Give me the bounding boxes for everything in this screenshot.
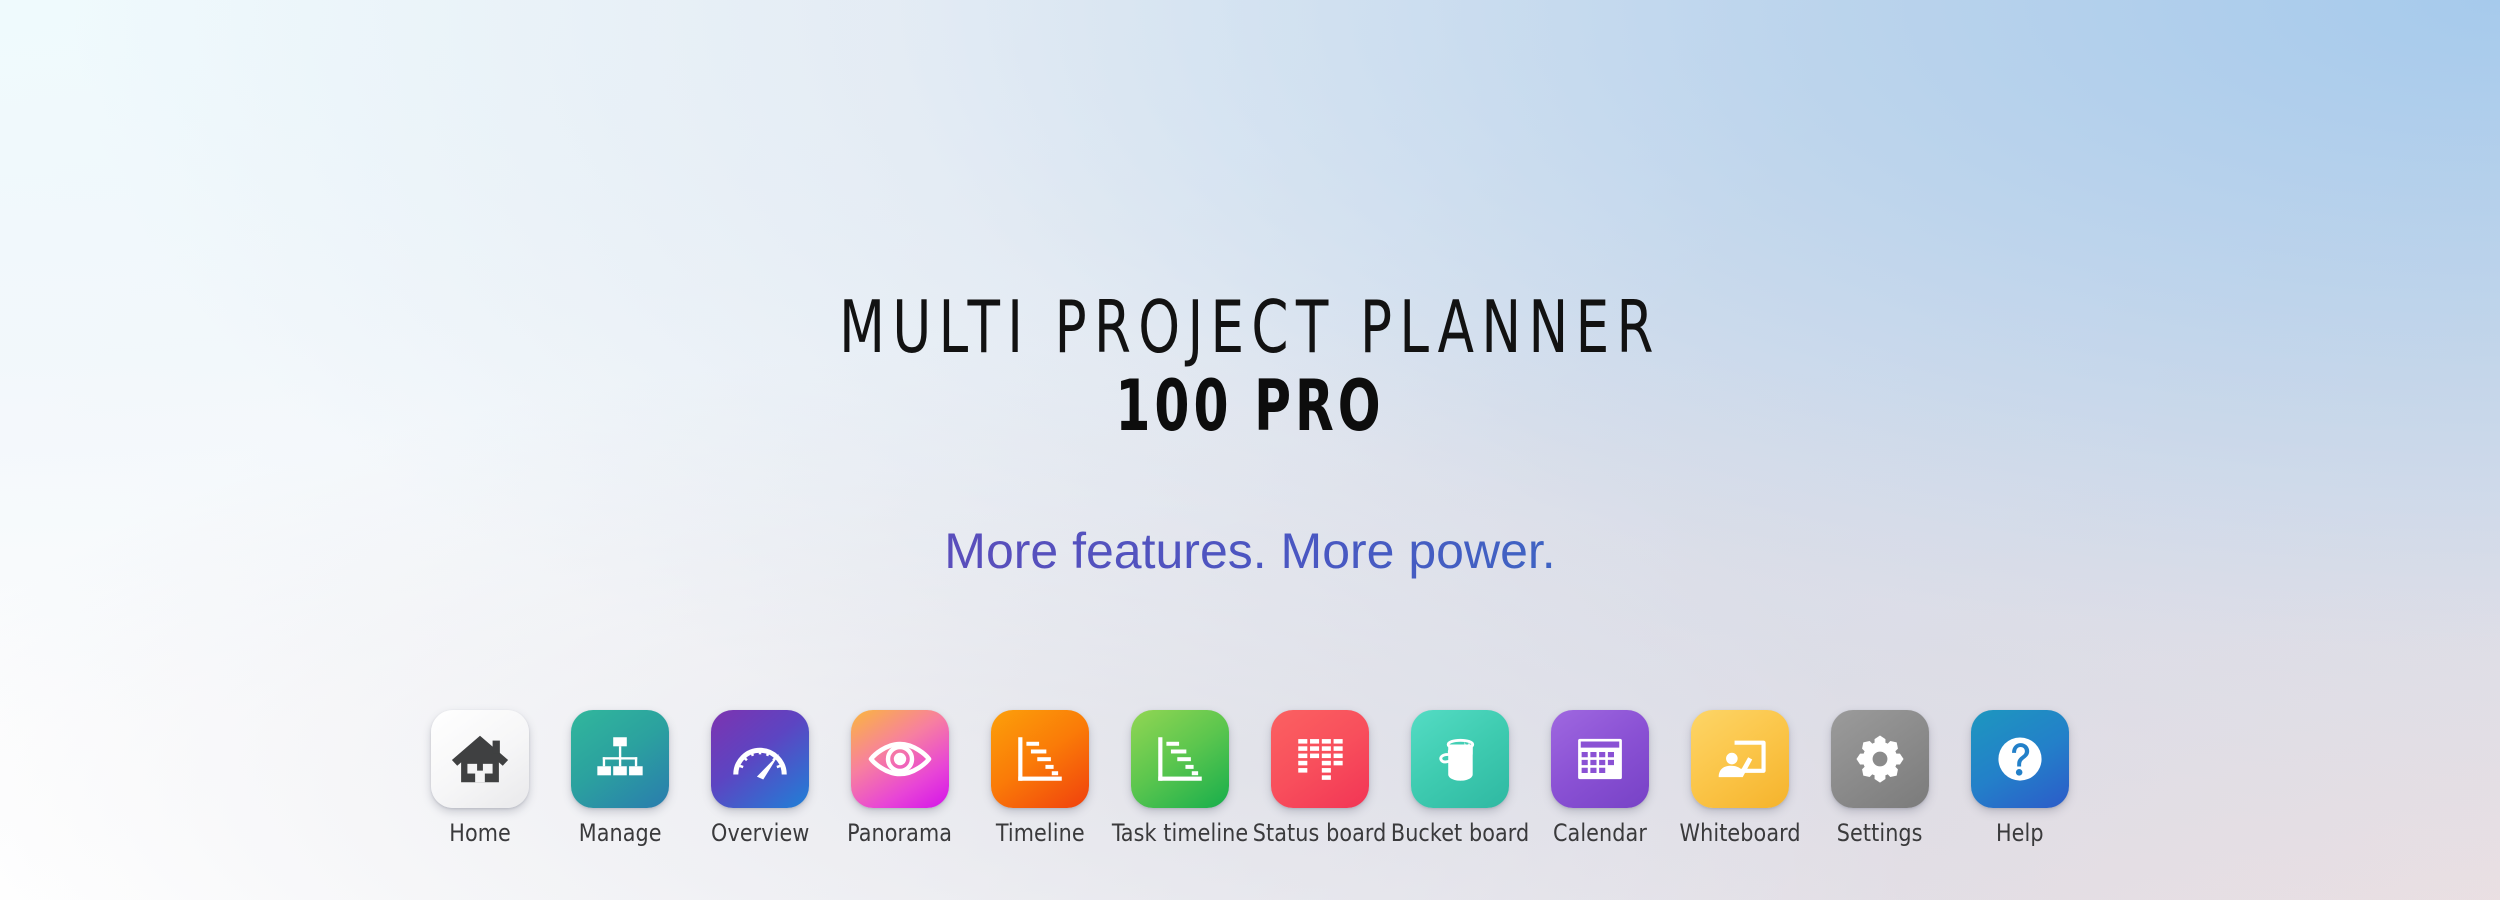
tile-surface[interactable] [1831, 710, 1929, 808]
launcher-tile-help[interactable]: Help [1950, 710, 2090, 847]
product-title-line1: MULTI PROJECT PLANNER [225, 288, 2275, 366]
whiteboard-icon [1711, 730, 1769, 788]
launcher-tile-panorama[interactable]: Panorama [830, 710, 970, 847]
tile-label: Manage [579, 819, 662, 847]
question-mark-icon [1990, 729, 2050, 789]
tile-surface[interactable] [711, 710, 809, 808]
status-board-icon [1291, 730, 1349, 788]
tile-surface[interactable] [1971, 710, 2069, 808]
launcher-tile-whiteboard[interactable]: Whiteboard [1670, 710, 1810, 847]
tile-label: Panorama [848, 819, 953, 847]
tile-label: Settings [1837, 819, 1923, 847]
gantt-chart-icon [1011, 730, 1069, 788]
org-chart-icon [591, 730, 649, 788]
paint-bucket-icon [1431, 730, 1489, 788]
launcher-tile-calendar[interactable]: Calendar [1530, 710, 1670, 847]
launcher-tile-manage[interactable]: Manage [550, 710, 690, 847]
launcher-tile-status-board[interactable]: Status board [1250, 710, 1390, 847]
launcher-tile-timeline[interactable]: Timeline [970, 710, 1110, 847]
tile-surface[interactable] [431, 710, 529, 808]
gear-icon [1851, 730, 1909, 788]
launcher-tile-home[interactable]: Home [410, 710, 550, 847]
launcher-tile-settings[interactable]: Settings [1810, 710, 1950, 847]
tile-label: Whiteboard [1679, 819, 1800, 847]
gauge-icon [729, 728, 791, 790]
tile-surface[interactable] [1551, 710, 1649, 808]
tile-label: Home [449, 819, 511, 847]
launcher-tile-task-timeline[interactable]: Task timeline [1110, 710, 1250, 847]
tile-surface[interactable] [571, 710, 669, 808]
tile-label: Status board [1253, 819, 1387, 847]
tile-surface[interactable] [1691, 710, 1789, 808]
tile-surface[interactable] [991, 710, 1089, 808]
tile-label: Task timeline [1112, 819, 1248, 847]
tile-surface[interactable] [1411, 710, 1509, 808]
product-tagline: More features. More power. [0, 521, 2500, 581]
eye-icon [868, 727, 932, 791]
tile-label: Overview [711, 819, 809, 847]
tile-label: Timeline [996, 819, 1085, 847]
gantt-chart-icon [1151, 730, 1209, 788]
launcher-tile-row: Home Manage [0, 710, 2500, 847]
home-icon [449, 728, 511, 790]
splash-content: MULTI PROJECT PLANNER 100 PRO More featu… [0, 0, 2500, 900]
tile-surface[interactable] [1131, 710, 1229, 808]
tile-label: Calendar [1553, 819, 1647, 847]
launcher-tile-overview[interactable]: Overview [690, 710, 830, 847]
product-title-block: MULTI PROJECT PLANNER 100 PRO [0, 288, 2500, 444]
tile-label: Bucket board [1391, 819, 1529, 847]
tile-surface[interactable] [1271, 710, 1369, 808]
calendar-icon [1572, 731, 1628, 787]
product-title-line2: 100 PRO [250, 368, 2250, 444]
tile-label: Help [1996, 819, 2044, 847]
launcher-tile-bucket-board[interactable]: Bucket board [1390, 710, 1530, 847]
tile-surface[interactable] [851, 710, 949, 808]
